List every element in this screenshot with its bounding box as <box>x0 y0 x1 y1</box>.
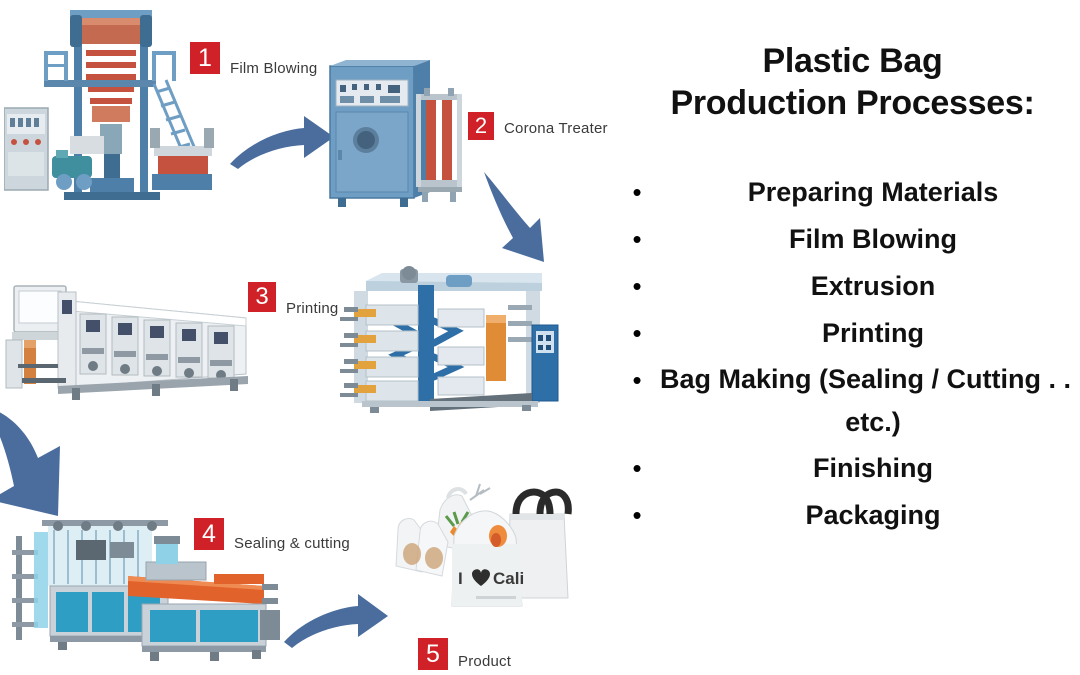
step-badge-2-number: 2 <box>475 115 487 137</box>
step-badge-2: 2 <box>468 112 494 140</box>
finished-plastic-bags-icon: I Cali <box>392 474 578 626</box>
step-badge-5: 5 <box>418 638 448 670</box>
step-badge-4-number: 4 <box>202 522 216 547</box>
step-badge-1: 1 <box>190 42 220 74</box>
list-item-label: Finishing <box>654 446 1080 491</box>
bullet-icon: • <box>620 311 654 356</box>
list-item: • Extrusion <box>620 264 1080 309</box>
list-item: • Printing <box>620 311 1080 356</box>
svg-text:Cali: Cali <box>493 569 524 588</box>
process-bullet-list: • Preparing Materials • Film Blowing • E… <box>620 170 1080 540</box>
list-item: • Finishing <box>620 446 1080 491</box>
step-label-4: Sealing & cutting <box>234 535 350 552</box>
bullet-icon: • <box>620 264 654 309</box>
list-item-label: Preparing Materials <box>654 170 1080 215</box>
page-title-line1: Plastic Bag <box>620 40 1080 82</box>
flexo-printing-press-icon <box>326 265 562 413</box>
bullet-icon: • <box>620 446 654 491</box>
printing-press-machine-icon <box>2 278 248 404</box>
page-title-line2: Production Processes: <box>620 82 1080 124</box>
step-badge-3-number: 3 <box>255 285 268 309</box>
list-item-label: Film Blowing <box>654 217 1080 262</box>
arrow-step3-to-step4 <box>0 402 90 526</box>
bullet-icon: • <box>620 217 654 262</box>
infographic-canvas: 1 Film Blowing <box>0 0 1080 675</box>
arrow-step2-to-step3 <box>480 170 580 280</box>
step-label-5: Product <box>458 653 511 670</box>
list-item-label: Printing <box>654 311 1080 356</box>
step-label-1: Film Blowing <box>230 60 317 77</box>
bullet-icon: • <box>620 358 654 403</box>
film-blowing-machine-icon <box>4 6 216 202</box>
page-title: Plastic Bag Production Processes: <box>620 40 1080 124</box>
step-badge-4: 4 <box>194 518 224 550</box>
list-item-label: Extrusion <box>654 264 1080 309</box>
list-item: • Bag Making (Sealing / Cutting . . . et… <box>620 358 1080 444</box>
list-item: • Preparing Materials <box>620 170 1080 215</box>
list-item-label: Packaging <box>654 493 1080 538</box>
list-item-label: Bag Making (Sealing / Cutting . . . etc.… <box>654 358 1080 444</box>
list-item: • Packaging <box>620 493 1080 538</box>
bullet-icon: • <box>620 170 654 215</box>
step-label-2: Corona Treater <box>504 120 608 137</box>
process-list-panel: Plastic Bag Production Processes: • Prep… <box>620 0 1080 675</box>
step-badge-3: 3 <box>248 282 276 312</box>
step-badge-1-number: 1 <box>198 46 212 71</box>
arrow-step1-to-step2 <box>228 112 338 174</box>
bullet-icon: • <box>620 493 654 538</box>
svg-text:I: I <box>458 569 463 588</box>
corona-treater-machine-icon <box>326 58 466 213</box>
arrow-step4-to-step5 <box>282 592 392 654</box>
step-badge-5-number: 5 <box>426 642 440 667</box>
list-item: • Film Blowing <box>620 217 1080 262</box>
